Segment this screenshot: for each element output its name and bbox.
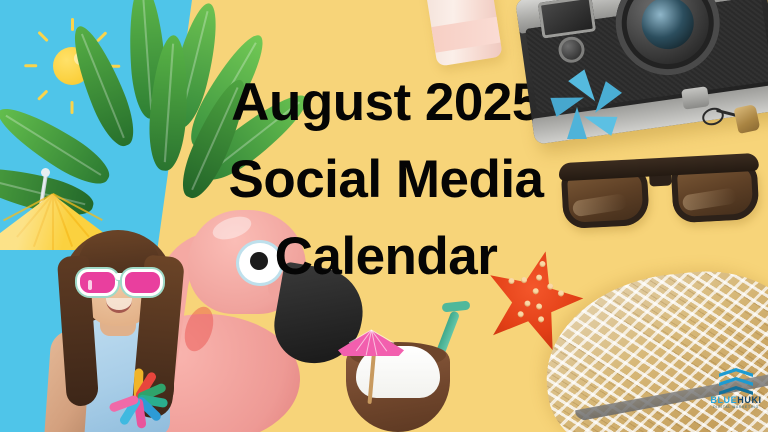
woman-in-sunglasses-photo <box>22 222 200 432</box>
camera-strap-clip-photo <box>700 98 760 146</box>
coconut-drink-icon <box>338 316 462 432</box>
title-line-2: Social Media <box>176 141 596 218</box>
cocktail-umbrella-icon <box>338 322 404 356</box>
brand-logo[interactable]: BLUEHUKI DIGITAL MARKETING <box>708 368 764 420</box>
sunscreen-tube-photo <box>423 0 503 67</box>
brand-name-part1: BLUE <box>710 395 737 405</box>
brand-tagline: DIGITAL MARKETING <box>708 405 764 410</box>
social-media-calendar-banner: August 2025 Social Media Calendar <box>0 0 768 432</box>
brand-name-part2: HUKI <box>737 395 761 405</box>
pink-sunglasses-icon <box>76 266 164 294</box>
brand-name: BLUEHUKI <box>708 395 764 405</box>
floral-print-icon <box>108 364 170 426</box>
triple-chevron-icon <box>719 368 753 394</box>
blue-starfish-photo <box>546 76 608 138</box>
brown-sunglasses-photo <box>560 143 760 239</box>
